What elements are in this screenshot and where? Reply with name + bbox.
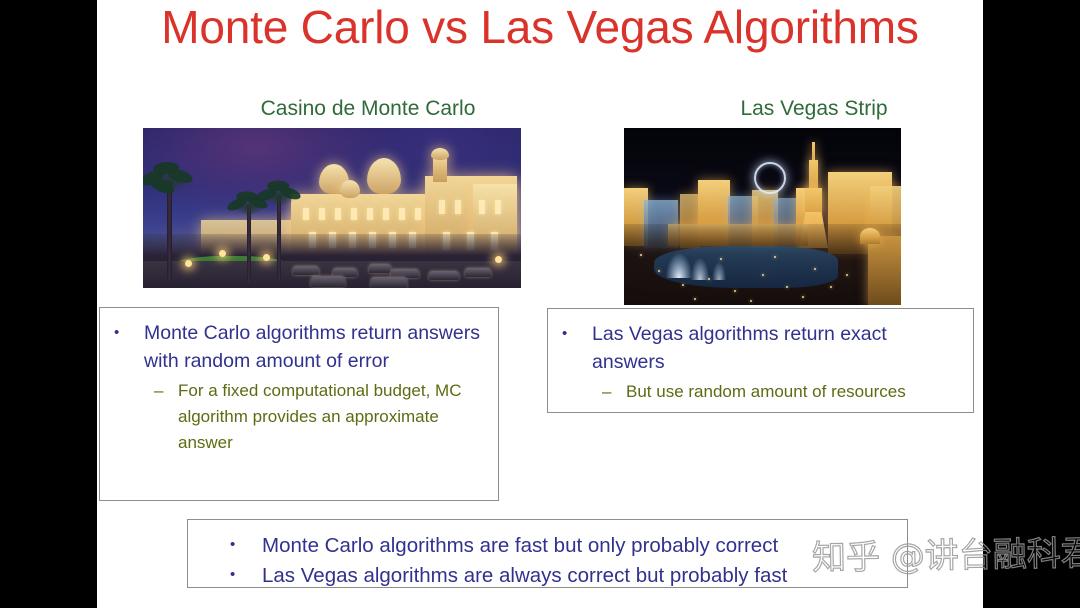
mc-window bbox=[415, 208, 421, 220]
mc-car bbox=[371, 277, 407, 288]
sub-bullet-text: For a fixed computational budget, MC alg… bbox=[178, 378, 486, 456]
bullet-text: Monte Carlo algorithms return answers wi… bbox=[144, 319, 486, 375]
page-number: 3 bbox=[968, 572, 976, 590]
mc-window bbox=[439, 200, 445, 214]
mc-palm-frond bbox=[267, 181, 289, 191]
mc-window bbox=[319, 208, 325, 220]
lv-light bbox=[830, 286, 832, 288]
mc-car bbox=[465, 268, 491, 277]
textbox-monte-carlo: • Monte Carlo algorithms return answers … bbox=[99, 307, 499, 501]
mc-car bbox=[293, 266, 319, 275]
mc-window bbox=[367, 208, 373, 220]
sub-bullet-item: – But use random amount of resources bbox=[602, 379, 961, 405]
bullet-marker-icon: • bbox=[230, 531, 262, 559]
mc-window bbox=[335, 208, 341, 220]
textbox-las-vegas: • Las Vegas algorithms return exact answ… bbox=[547, 308, 974, 413]
mc-window bbox=[303, 208, 309, 220]
lv-light bbox=[774, 256, 776, 258]
mc-street-lamp bbox=[263, 254, 270, 261]
lv-fountain bbox=[688, 232, 712, 280]
summary-item: • Monte Carlo algorithms are fast but on… bbox=[230, 531, 897, 561]
dash-marker-icon: – bbox=[154, 378, 178, 404]
lv-resort-dome bbox=[860, 228, 880, 244]
mc-palm-frond bbox=[236, 191, 257, 201]
textbox-summary: • Monte Carlo algorithms are fast but on… bbox=[187, 519, 908, 588]
mc-window bbox=[455, 200, 461, 214]
mc-window bbox=[383, 208, 389, 220]
lv-light bbox=[720, 258, 722, 260]
slide-canvas: Monte Carlo vs Las Vegas Algorithms Casi… bbox=[97, 0, 983, 608]
image-las-vegas-strip bbox=[624, 128, 901, 305]
bullet-marker-icon: • bbox=[562, 320, 592, 348]
image-casino-de-monte-carlo bbox=[143, 128, 521, 288]
mc-turret-small bbox=[340, 180, 360, 198]
mc-window bbox=[399, 208, 405, 220]
bullet-text: Las Vegas algorithms return exact answer… bbox=[592, 320, 961, 376]
lv-light bbox=[802, 296, 804, 298]
summary-item: • Las Vegas algorithms are always correc… bbox=[230, 561, 897, 591]
lv-light bbox=[708, 278, 710, 280]
mc-car bbox=[311, 276, 345, 287]
mc-palm-crown bbox=[257, 182, 301, 208]
mc-window bbox=[495, 200, 501, 214]
mc-window bbox=[479, 200, 485, 214]
mc-palm-crown bbox=[143, 164, 195, 194]
slide-viewer: Monte Carlo vs Las Vegas Algorithms Casi… bbox=[0, 0, 1080, 608]
summary-line-2: Las Vegas algorithms are always correct … bbox=[262, 561, 897, 591]
bullet-marker-icon: • bbox=[114, 319, 144, 347]
mc-street-lamp bbox=[219, 250, 226, 257]
bullet-marker-icon: • bbox=[230, 561, 262, 589]
lv-light bbox=[762, 274, 764, 276]
summary-line-1: Monte Carlo algorithms are fast but only… bbox=[262, 531, 897, 561]
mc-palm-trunk bbox=[167, 180, 172, 280]
mc-street-lamp bbox=[495, 256, 502, 263]
lv-light bbox=[846, 274, 848, 276]
mc-car bbox=[369, 264, 391, 273]
lv-light bbox=[694, 298, 696, 300]
bullet-item: • Las Vegas algorithms return exact answ… bbox=[562, 320, 961, 376]
mc-street-lamp bbox=[185, 260, 192, 267]
lv-light bbox=[734, 290, 736, 292]
dash-marker-icon: – bbox=[602, 379, 626, 405]
page-title: Monte Carlo vs Las Vegas Algorithms bbox=[97, 0, 983, 56]
caption-monte-carlo: Casino de Monte Carlo bbox=[203, 96, 533, 122]
letterbox-right bbox=[983, 0, 1080, 608]
lv-light bbox=[814, 268, 816, 270]
mc-dome-center bbox=[367, 158, 401, 194]
mc-window bbox=[351, 208, 357, 220]
mc-car bbox=[429, 271, 459, 280]
lv-light bbox=[640, 254, 642, 256]
lv-light bbox=[658, 270, 660, 272]
lv-fountain bbox=[710, 240, 728, 280]
bullet-item: • Monte Carlo algorithms return answers … bbox=[114, 319, 486, 375]
caption-las-vegas: Las Vegas Strip bbox=[664, 96, 964, 122]
lv-light bbox=[682, 284, 684, 286]
sub-bullet-item: – For a fixed computational budget, MC a… bbox=[154, 378, 486, 456]
mc-corner-turret-cap bbox=[431, 148, 449, 160]
letterbox-left bbox=[0, 0, 97, 608]
lv-light bbox=[786, 286, 788, 288]
lv-foreground-resort bbox=[868, 236, 901, 305]
lv-light bbox=[750, 300, 752, 302]
sub-bullet-text: But use random amount of resources bbox=[626, 379, 961, 405]
